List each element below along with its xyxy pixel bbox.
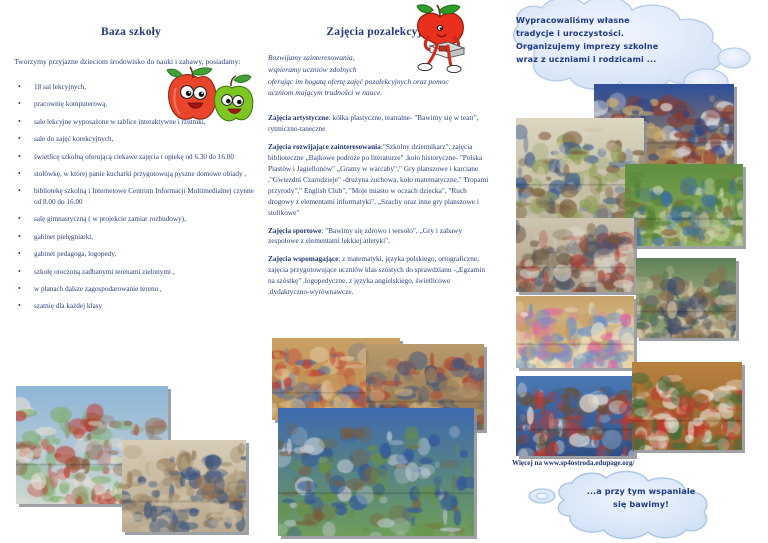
photo-class-costumes xyxy=(516,218,634,292)
brochure-page: Baza szkoły Tworzymy przyjazne dzieciom … xyxy=(0,0,768,543)
photo-dance-performance xyxy=(516,296,634,368)
facility-item: gabinet pedagoga, logopedy, xyxy=(0,249,262,259)
left-column: Baza szkoły Tworzymy przyjazne dzieciom … xyxy=(0,0,262,319)
facility-item: bibliotekę szkolną i Internetowe Centrum… xyxy=(0,186,262,207)
facility-item: szkołę otoczoną zadbanymi terenami zielo… xyxy=(0,267,262,277)
photo-nature-exhibition xyxy=(625,164,743,246)
two-apples-icon xyxy=(160,66,256,124)
cloud-bottom-text: ...a przy tym wspaniale się bawimy! xyxy=(566,485,716,511)
activity-section-label: Zajęcia wspomagające xyxy=(268,254,338,263)
activity-section: Zajęcia sportowe: "Bawimy się zdrowo i w… xyxy=(268,226,492,248)
activity-sections: Zajęcia artystyczne: kółka plastyczne, t… xyxy=(268,113,492,298)
activity-section: Zajęcia artystyczne: kółka plastyczne, t… xyxy=(268,113,492,135)
cloud-top-text: Wypracowaliśmy własne tradycje i uroczys… xyxy=(516,14,716,66)
website-link[interactable]: Więcej na www.sp4ostroda.edupage.org/ xyxy=(512,459,752,467)
facility-item: gabinet pielęgniarki, xyxy=(0,232,262,242)
activity-section-label: Zajęcia sportowe xyxy=(268,226,321,235)
apple-with-book-icon xyxy=(404,4,476,80)
photo-library-reading xyxy=(122,440,246,532)
facility-note: w planach dalsze zagospodarowanie terenu… xyxy=(0,284,262,294)
facility-item: świetlicę szkolną oferującą ciekawe zaję… xyxy=(0,152,262,162)
photo-theatre-forest xyxy=(278,408,474,536)
photo-christmas-party xyxy=(516,376,634,456)
photo-santa-hats xyxy=(632,362,742,450)
activity-section: Zajęcia rozwijające zainteresowania:"Szk… xyxy=(268,142,492,219)
activity-section-label: Zajęcia artystyczne xyxy=(268,113,329,122)
activity-section-label: Zajęcia rozwijające zainteresowania xyxy=(268,142,381,151)
left-column-heading: Baza szkoły xyxy=(0,26,262,38)
facility-item: stołówkę, w której panie kucharki przygo… xyxy=(0,169,262,179)
facility-item: salę gimnastyczną ( w projekcie zamiar r… xyxy=(0,214,262,224)
activity-section: Zajęcia wspomagające: z matematyki, języ… xyxy=(268,254,492,298)
facility-item: szatnię dla każdej klasy xyxy=(0,301,262,311)
facility-item: sale do zajęć korekcyjnych, xyxy=(0,134,262,144)
photo-cooking-workshop xyxy=(636,258,736,338)
